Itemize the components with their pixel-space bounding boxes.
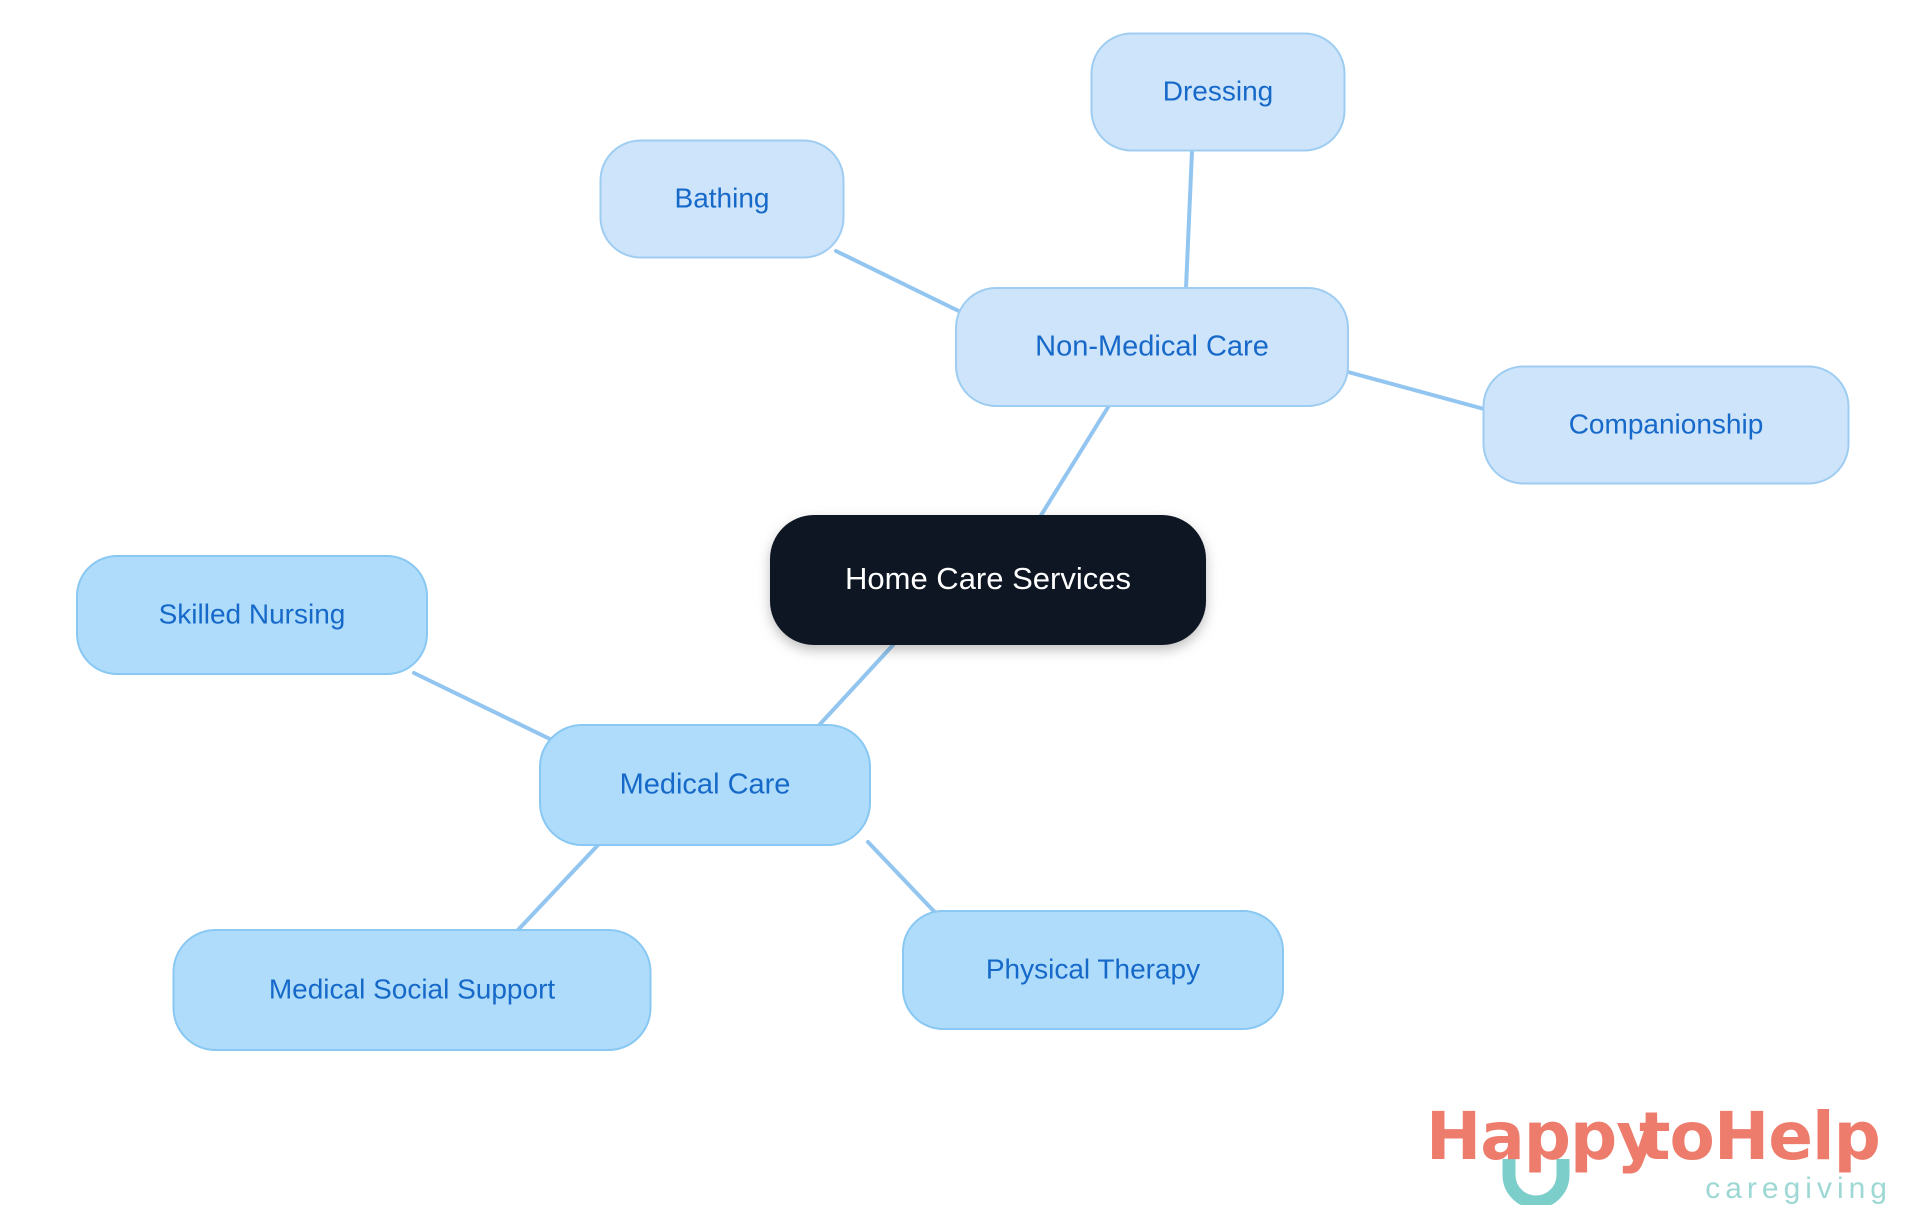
node-dressing[interactable]: Dressing [1092, 34, 1345, 151]
node-bathing[interactable]: Bathing [601, 141, 844, 258]
node-label-medical-social-support: Medical Social Support [269, 973, 556, 1004]
node-label-dressing: Dressing [1163, 75, 1273, 106]
node-label-companionship: Companionship [1569, 408, 1764, 439]
edge-non-medical-dressing [1186, 151, 1192, 288]
node-skilled-nursing[interactable]: Skilled Nursing [77, 556, 427, 674]
node-physical-therapy[interactable]: Physical Therapy [903, 911, 1283, 1029]
node-label-physical-therapy: Physical Therapy [986, 953, 1200, 984]
edge-medical-social-support [518, 845, 598, 930]
edge-root-non-medical [1040, 404, 1110, 517]
logo-tagline: caregiving [1705, 1172, 1892, 1205]
nodes-layer: BathingDressingCompanionshipSkilled Nurs… [77, 34, 1849, 1051]
mindmap-canvas: BathingDressingCompanionshipSkilled Nurs… [0, 0, 1920, 1215]
brand-logo: Happy to Help caregiving [1426, 1097, 1896, 1205]
node-label-non-medical-care: Non-Medical Care [1035, 331, 1269, 363]
logo-word-happy: Happy [1426, 1098, 1658, 1175]
logo-word-to: to [1639, 1098, 1714, 1175]
node-home-care-services[interactable]: Home Care Services [770, 515, 1206, 645]
node-medical-care[interactable]: Medical Care [540, 725, 870, 845]
edge-non-medical-companionship [1348, 372, 1484, 409]
node-medical-social-support[interactable]: Medical Social Support [174, 930, 651, 1050]
node-label-bathing: Bathing [675, 182, 770, 213]
logo-word-help: Help [1714, 1098, 1880, 1175]
node-label-skilled-nursing: Skilled Nursing [159, 598, 346, 629]
node-companionship[interactable]: Companionship [1484, 367, 1849, 484]
node-label-home-care-services: Home Care Services [845, 561, 1131, 596]
node-non-medical-care[interactable]: Non-Medical Care [956, 288, 1348, 406]
edge-root-medical [810, 645, 893, 735]
node-label-medical-care: Medical Care [620, 769, 791, 801]
edge-non-medical-bathing [836, 251, 973, 318]
edge-medical-skilled-nursing [414, 673, 552, 740]
happy-to-help-logo-svg: Happy to Help caregiving [1426, 1097, 1896, 1205]
